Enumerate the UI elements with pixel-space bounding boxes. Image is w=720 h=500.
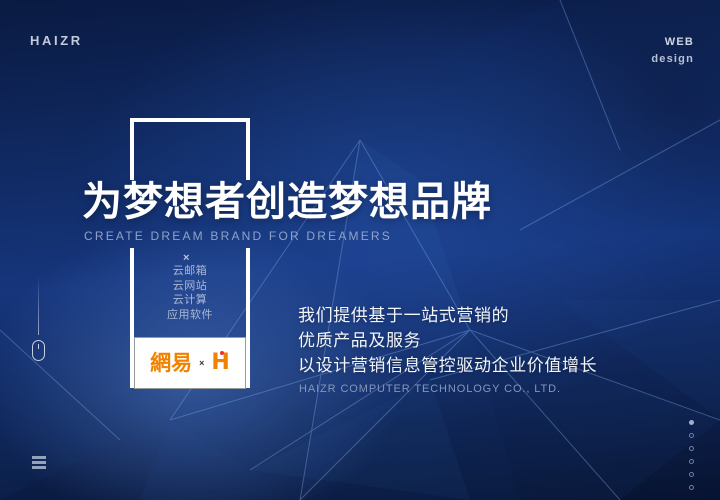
slide-pagination[interactable] (689, 420, 694, 490)
pagination-dot[interactable] (689, 446, 694, 451)
service-item[interactable]: 云计算 (134, 293, 246, 308)
services-x-mark: × (183, 252, 189, 264)
service-item[interactable]: 云网站 (134, 279, 246, 294)
pagination-dot[interactable] (689, 485, 694, 490)
body-copy-line: 以设计营销信息管控驱动企业价值增长 (298, 354, 597, 379)
frame-right-edge-lower (246, 248, 250, 388)
pagination-dot[interactable] (689, 472, 694, 477)
hero-slide: HAIZR WEB design 为梦想者创造梦想品牌 CREATE DREAM… (0, 0, 720, 500)
haizr-h-mark: H (211, 352, 229, 374)
netease-wordmark: 網易 (150, 353, 192, 374)
body-copy: 我们提供基于一站式营销的 优质产品及服务 以设计营销信息管控驱动企业价值增长 (298, 304, 597, 379)
company-name: HAIZR COMPUTER TECHNOLOGY CO., LTD. (299, 383, 561, 395)
pagination-dot[interactable] (689, 433, 694, 438)
scroll-indicator-line (38, 275, 39, 335)
hamburger-bar (32, 456, 46, 459)
pagination-dot[interactable] (689, 420, 694, 425)
tagline-line-2: design (651, 51, 694, 68)
mouse-scroll-icon[interactable] (32, 340, 45, 361)
frame-top-edge (130, 118, 250, 122)
hero-subheadline: CREATE DREAM BRAND FOR DREAMERS (84, 229, 392, 243)
frame-right-edge-upper (246, 118, 250, 180)
low-poly-background-graphic (0, 0, 720, 500)
pagination-dot[interactable] (689, 459, 694, 464)
frame-left-edge-upper (130, 118, 134, 180)
service-item[interactable]: 应用软件 (134, 308, 246, 323)
body-copy-line: 我们提供基于一站式营销的 (298, 304, 597, 329)
body-copy-line: 优质产品及服务 (298, 329, 597, 354)
brand-logo[interactable]: HAIZR (30, 33, 83, 48)
partner-logo-box: 網易 × H (134, 337, 246, 389)
mouse-scroll-wheel (38, 344, 39, 349)
hamburger-menu-icon[interactable] (32, 456, 46, 469)
tagline-line-1: WEB (651, 34, 694, 51)
hamburger-bar (32, 466, 46, 469)
logo-x-separator: × (199, 358, 204, 368)
hamburger-bar (32, 461, 46, 464)
services-list: 云邮箱 云网站 云计算 应用软件 (134, 264, 246, 322)
hero-headline: 为梦想者创造梦想品牌 (82, 182, 492, 222)
service-item[interactable]: 云邮箱 (134, 264, 246, 279)
web-design-tagline: WEB design (651, 34, 694, 67)
